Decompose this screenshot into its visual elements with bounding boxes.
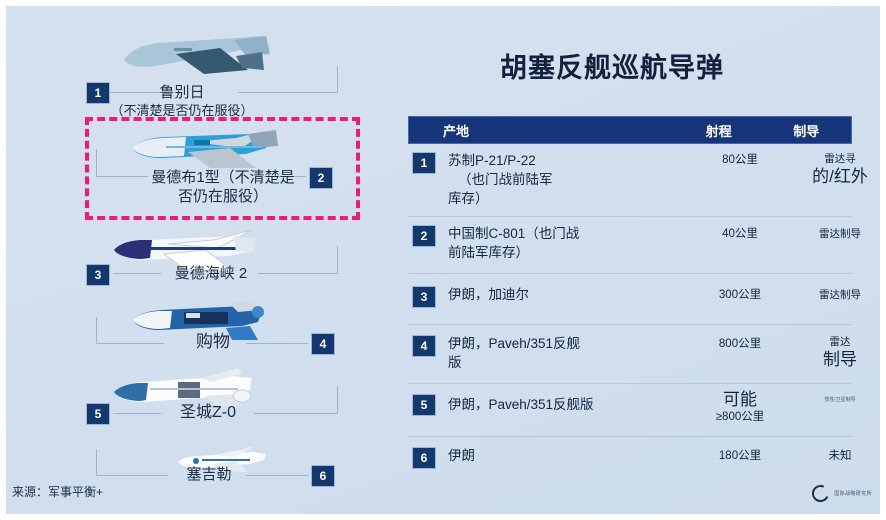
- missile-label-6: 塞吉勒: [173, 465, 245, 484]
- connector-5-right: [254, 413, 338, 414]
- cell-origin-4: 伊朗，Paveh/351反舰 版: [448, 334, 688, 372]
- infographic-canvas: 1 鲁别日 （不清楚是否仍在服役） 2 曼德布1型（不清楚是否仍在服役）: [6, 6, 880, 514]
- missile-label-1: 鲁别日: [127, 83, 237, 102]
- origin-line-2: 前陆军库存）: [448, 243, 688, 262]
- missile-badge-5[interactable]: 5: [86, 403, 110, 425]
- row-badge-1: 1: [412, 152, 436, 174]
- cell-origin-2: 中国制C-801（也门战 前陆军库存）: [448, 224, 688, 262]
- cell-origin-3: 伊朗，加迪尔: [448, 285, 688, 304]
- cell-range-2: 40公里: [692, 227, 788, 242]
- missile-2-icon: [126, 126, 286, 172]
- table-row[interactable]: 4 伊朗，Paveh/351反舰 版 800公里 雷达 制导: [408, 325, 852, 384]
- row-badge-5: 5: [412, 394, 436, 416]
- cell-range-3: 300公里: [692, 288, 788, 303]
- origin-line-1: 伊朗: [448, 448, 475, 463]
- guidance-small-2: 雷达制导: [788, 227, 880, 241]
- cell-guidance-1: 雷达寻 的/红外: [788, 152, 880, 187]
- origin-line-1: 伊朗，Paveh/351反舰: [448, 336, 580, 351]
- publisher-logo: 国际战略研究所: [812, 485, 872, 502]
- origin-line-2: （也门战前陆军: [448, 170, 688, 189]
- table-row[interactable]: 1 苏制P-21/P-22 （也门战前陆军 库存） 80公里 雷达寻 的/红外: [408, 144, 852, 217]
- cell-origin-6: 伊朗: [448, 446, 688, 465]
- connector-3-right: [258, 273, 338, 274]
- cell-guidance-4: 雷达 制导: [788, 335, 880, 370]
- connector-4-riser: [96, 317, 97, 343]
- source-note: 来源：军事平衡+: [12, 483, 103, 500]
- column-header-range: 射程: [676, 121, 762, 140]
- publisher-name: 国际战略研究所: [834, 490, 872, 497]
- missile-badge-1[interactable]: 1: [86, 82, 110, 104]
- range-value-1: 80公里: [692, 153, 788, 168]
- missile-badge-2[interactable]: 2: [309, 167, 333, 189]
- guidance-small-6: 未知: [788, 449, 880, 464]
- connector-3-riser: [337, 246, 338, 274]
- guidance-large-4: 制导: [788, 349, 880, 370]
- table-row[interactable]: 5 伊朗，Paveh/351反舰版 可能 ≥800公里 惯性/卫星制导: [408, 384, 852, 437]
- origin-line-2: 版: [448, 353, 688, 372]
- cell-origin-1: 苏制P-21/P-22 （也门战前陆军 库存）: [448, 151, 688, 208]
- cell-guidance-5: 惯性/卫星制导: [788, 396, 880, 404]
- missile-badge-6[interactable]: 6: [311, 465, 335, 487]
- missile-label-2: 曼德布1型（不清楚是否仍在服役）: [148, 168, 298, 206]
- missile-label-4: 购物: [181, 332, 245, 351]
- column-header-guidance: 制导: [762, 121, 851, 140]
- connector-6-right: [246, 475, 308, 476]
- missile-spec-table: 产地 射程 制导 1 苏制P-21/P-22 （也门战前陆军 库存） 80公里 …: [408, 116, 852, 483]
- cell-range-4: 800公里: [692, 337, 788, 352]
- connector-4-right: [246, 343, 308, 344]
- connector-1-riser: [337, 66, 338, 93]
- connector-5-riser: [337, 386, 338, 414]
- connector-2-left: [96, 176, 148, 177]
- origin-line-1: 中国制C-801（也门战: [448, 226, 579, 241]
- missile-1-icon: [116, 30, 276, 82]
- range-qualifier-5: 可能: [692, 389, 788, 410]
- guidance-small-4: 雷达: [788, 335, 880, 349]
- connector-3-left: [113, 273, 161, 274]
- guidance-small-3: 雷达制导: [788, 288, 880, 302]
- range-value-6: 180公里: [692, 449, 788, 464]
- origin-line-1: 伊朗，加迪尔: [448, 287, 529, 302]
- cell-guidance-3: 雷达制导: [788, 288, 880, 302]
- connector-5-left: [113, 413, 161, 414]
- iiss-logo-icon: [810, 483, 832, 505]
- missile-badge-4[interactable]: 4: [311, 333, 335, 355]
- table-row[interactable]: 2 中国制C-801（也门战 前陆军库存） 40公里 雷达制导: [408, 217, 852, 274]
- column-header-origin: 产地: [443, 121, 676, 140]
- guidance-tiny-5: 惯性/卫星制导: [788, 396, 880, 404]
- cell-guidance-2: 雷达制导: [788, 227, 880, 241]
- range-value-3: 300公里: [692, 288, 788, 303]
- guidance-small-1: 雷达寻: [788, 152, 880, 166]
- page-title: 胡塞反舰巡航导弹: [500, 46, 724, 85]
- row-badge-4: 4: [412, 335, 436, 357]
- origin-line-3: 库存）: [448, 191, 489, 206]
- connector-4-left: [96, 343, 164, 344]
- missile-label-3: 曼德海峡 2: [161, 264, 261, 283]
- cell-range-5: 可能 ≥800公里: [692, 389, 788, 425]
- cell-range-6: 180公里: [692, 449, 788, 464]
- range-value-5: ≥800公里: [692, 410, 788, 425]
- table-header-row: 产地 射程 制导: [408, 116, 852, 144]
- connector-6-riser: [96, 449, 97, 475]
- connector-1-right: [238, 92, 338, 93]
- missile-badge-3[interactable]: 3: [86, 264, 110, 286]
- origin-line-1: 苏制P-21/P-22: [448, 153, 536, 168]
- row-badge-3: 3: [412, 286, 436, 308]
- table-row[interactable]: 6 伊朗 180公里 未知: [408, 437, 852, 483]
- cell-range-1: 80公里: [692, 153, 788, 168]
- connector-2-riser: [96, 149, 97, 176]
- missile-label-5: 圣城Z-0: [164, 403, 252, 422]
- cell-origin-5: 伊朗，Paveh/351反舰版: [448, 395, 688, 414]
- origin-line-1: 伊朗，Paveh/351反舰版: [448, 397, 594, 412]
- cell-guidance-6: 未知: [788, 449, 880, 464]
- table-row[interactable]: 3 伊朗，加迪尔 300公里 雷达制导: [408, 274, 852, 325]
- connector-6-left: [96, 475, 168, 476]
- row-badge-2: 2: [412, 225, 436, 247]
- range-value-4: 800公里: [692, 337, 788, 352]
- range-value-2: 40公里: [692, 227, 788, 242]
- row-badge-6: 6: [412, 447, 436, 469]
- guidance-large-1: 的/红外: [788, 166, 880, 187]
